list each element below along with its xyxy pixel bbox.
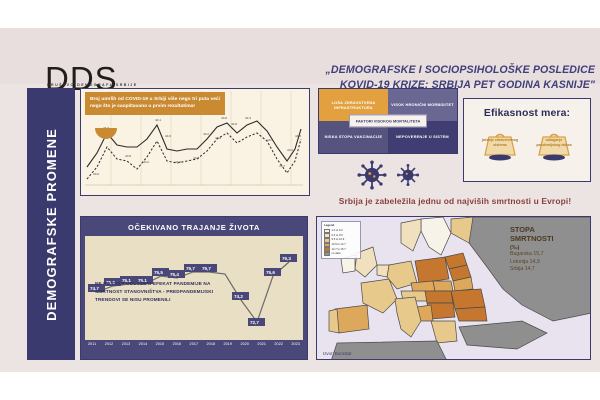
stat-row-serbia: Srbija 14,7 [510, 266, 584, 274]
legend-label: 9.5 to 10.9 [332, 238, 345, 242]
point-label: 43.8 [193, 156, 199, 160]
point-label: 43.8 [221, 116, 227, 120]
year-tick: 2020 [240, 342, 249, 346]
year-tick: 2018 [207, 342, 216, 346]
stat-title-line1: STOPA [510, 225, 584, 234]
svg-text:75,6: 75,6 [266, 270, 275, 275]
life-expectancy-panel: OČEKIVANO TRAJANJE ŽIVOTA 74,7 75,0 75,1… [80, 216, 308, 360]
europe-mortality-map-panel: Legend 4.0 to 6.0 6.0 to 9.5 9.5 to 10.9… [316, 216, 591, 360]
point-label: 43.7 [279, 164, 285, 168]
point-label: 43.2 [203, 132, 209, 136]
mortality-factors-quadrant: LOŠA ZDRAVSTVENA INFRASTRUKTURA VISOK HR… [318, 88, 458, 154]
scale-left-label: jačanje zdravstvenog sistema [480, 138, 520, 148]
top-gutter [0, 0, 600, 28]
life-expectancy-note: NE POSTOJI ODLOŽENI EFEKAT PANDEMIJE NA … [95, 280, 223, 305]
efikasnost-title: Efikasnost mera: [464, 107, 590, 119]
legend-label: 6.0 to 9.5 [332, 234, 343, 238]
point-label: 43.5 [267, 138, 273, 142]
quadrant-center-label: FAKTORI VISOKOG MORTALITETA [349, 114, 427, 127]
point-label: 43.2 [143, 160, 149, 164]
year-tick: 2016 [173, 342, 182, 346]
map-legend: Legend 4.0 to 6.0 6.0 to 9.5 9.5 to 10.9… [321, 221, 361, 259]
svg-text:74,2: 74,2 [234, 294, 243, 299]
legend-label: 10.9 to 12.7 [332, 243, 346, 247]
scale-right-label: odlaganje pandemijskog talasa [534, 138, 574, 148]
scale-left: jačanje zdravstvenog sistema [480, 127, 520, 166]
point-label: 44.6 [165, 134, 171, 138]
poster-root: DDS DRUŠTVO DEMOGRAFA SRBIJE „DEMOGRAFSK… [0, 0, 600, 400]
section-band-demografske-promene: DEMOGRAFSKE PROMENE [27, 88, 75, 360]
legend-item: no data [324, 252, 358, 257]
svg-text:75,7: 75,7 [186, 266, 195, 271]
virus-icon-small [396, 163, 420, 187]
year-tick: 2023 [291, 342, 300, 346]
mortality-banner-text: Srbija je zabeležila jednu od najviših s… [312, 196, 598, 206]
year-tick: 2015 [156, 342, 165, 346]
svg-text:76,3: 76,3 [282, 256, 291, 261]
life-expectancy-plot: 74,7 75,0 75,1 75,1 75,5 75,4 75,7 75,7 … [85, 236, 303, 340]
legend-title: Legend [324, 224, 358, 228]
point-label: 44.3 [245, 116, 251, 120]
mortality-rate-stats: STOPA SMRTNOSTI (‰) Bugarska 15,7 Letoni… [510, 225, 584, 274]
year-tick: 2019 [223, 342, 232, 346]
title-line-1: „DEMOGRAFSKE I SOCIOPSIHOLOŠKE POSLEDICE [255, 64, 595, 76]
scales-row: jačanje zdravstvenog sistema odlaganje p… [464, 127, 590, 166]
poster-title: „DEMOGRAFSKE I SOCIOPSIHOLOŠKE POSLEDICE… [255, 64, 595, 91]
point-label: 43.6 [93, 172, 99, 176]
point-label: 43.9 [215, 136, 221, 140]
year-tick: 2013 [122, 342, 131, 346]
svg-text:75,7: 75,7 [202, 266, 211, 271]
svg-text:75,5: 75,5 [154, 270, 163, 275]
stat-title-line2: SMRTNOSTI [510, 234, 584, 243]
year-tick: 2011 [88, 342, 96, 346]
year-tick: 2012 [105, 342, 114, 346]
map-source-note: Izvor: Eurostat [323, 351, 351, 356]
legend-swatch [324, 252, 330, 257]
legend-label: 12.7 to 15.7 [332, 248, 346, 252]
svg-text:75,4: 75,4 [170, 272, 179, 277]
legend-label: 4.0 to 6.0 [332, 229, 343, 233]
covid-mortality-line-chart: 43.6 44.7 43.8 43.2 44.1 44.6 43.8 43.8 … [80, 88, 310, 196]
point-label: 43.8 [175, 160, 181, 164]
stat-row-bulgaria: Bugarska 15,7 [510, 251, 584, 259]
scale-right: odlaganje pandemijskog talasa [534, 127, 574, 166]
point-label: 44.1 [155, 118, 161, 122]
virus-icon-row [318, 156, 458, 194]
bottom-gutter [0, 372, 600, 400]
stat-row-latvia: Letonija 14,9 [510, 259, 584, 267]
covid-callout-box: Broj umrlih od COVID-19 u Srbiji više ne… [85, 92, 225, 115]
measure-effectiveness-panel: Efikasnost mera: jačanje zdravstvenog si… [463, 98, 591, 182]
point-label: 44.8 [231, 122, 237, 126]
life-expectancy-year-axis: 2011 2012 2013 2014 2015 2016 2017 2018 … [85, 340, 303, 346]
point-label: 44.3 [295, 134, 301, 138]
section-band-label: DEMOGRAFSKE PROMENE [44, 128, 59, 321]
year-tick: 2014 [139, 342, 148, 346]
logo-subtitle: DRUŠTVO DEMOGRAFA SRBIJE [47, 83, 165, 87]
year-tick: 2021 [257, 342, 266, 346]
life-expectancy-title: OČEKIVANO TRAJANJE ŽIVOTA [85, 221, 303, 236]
poster-header: DDS DRUŠTVO DEMOGRAFA SRBIJE „DEMOGRAFSK… [0, 28, 600, 84]
svg-text:72,7: 72,7 [250, 320, 259, 325]
point-label: 43.8 [125, 154, 131, 158]
year-tick: 2017 [190, 342, 199, 346]
point-label: 43.3 [287, 148, 293, 152]
virus-icon [357, 160, 387, 190]
legend-label: no data [332, 252, 341, 256]
year-tick: 2022 [274, 342, 283, 346]
